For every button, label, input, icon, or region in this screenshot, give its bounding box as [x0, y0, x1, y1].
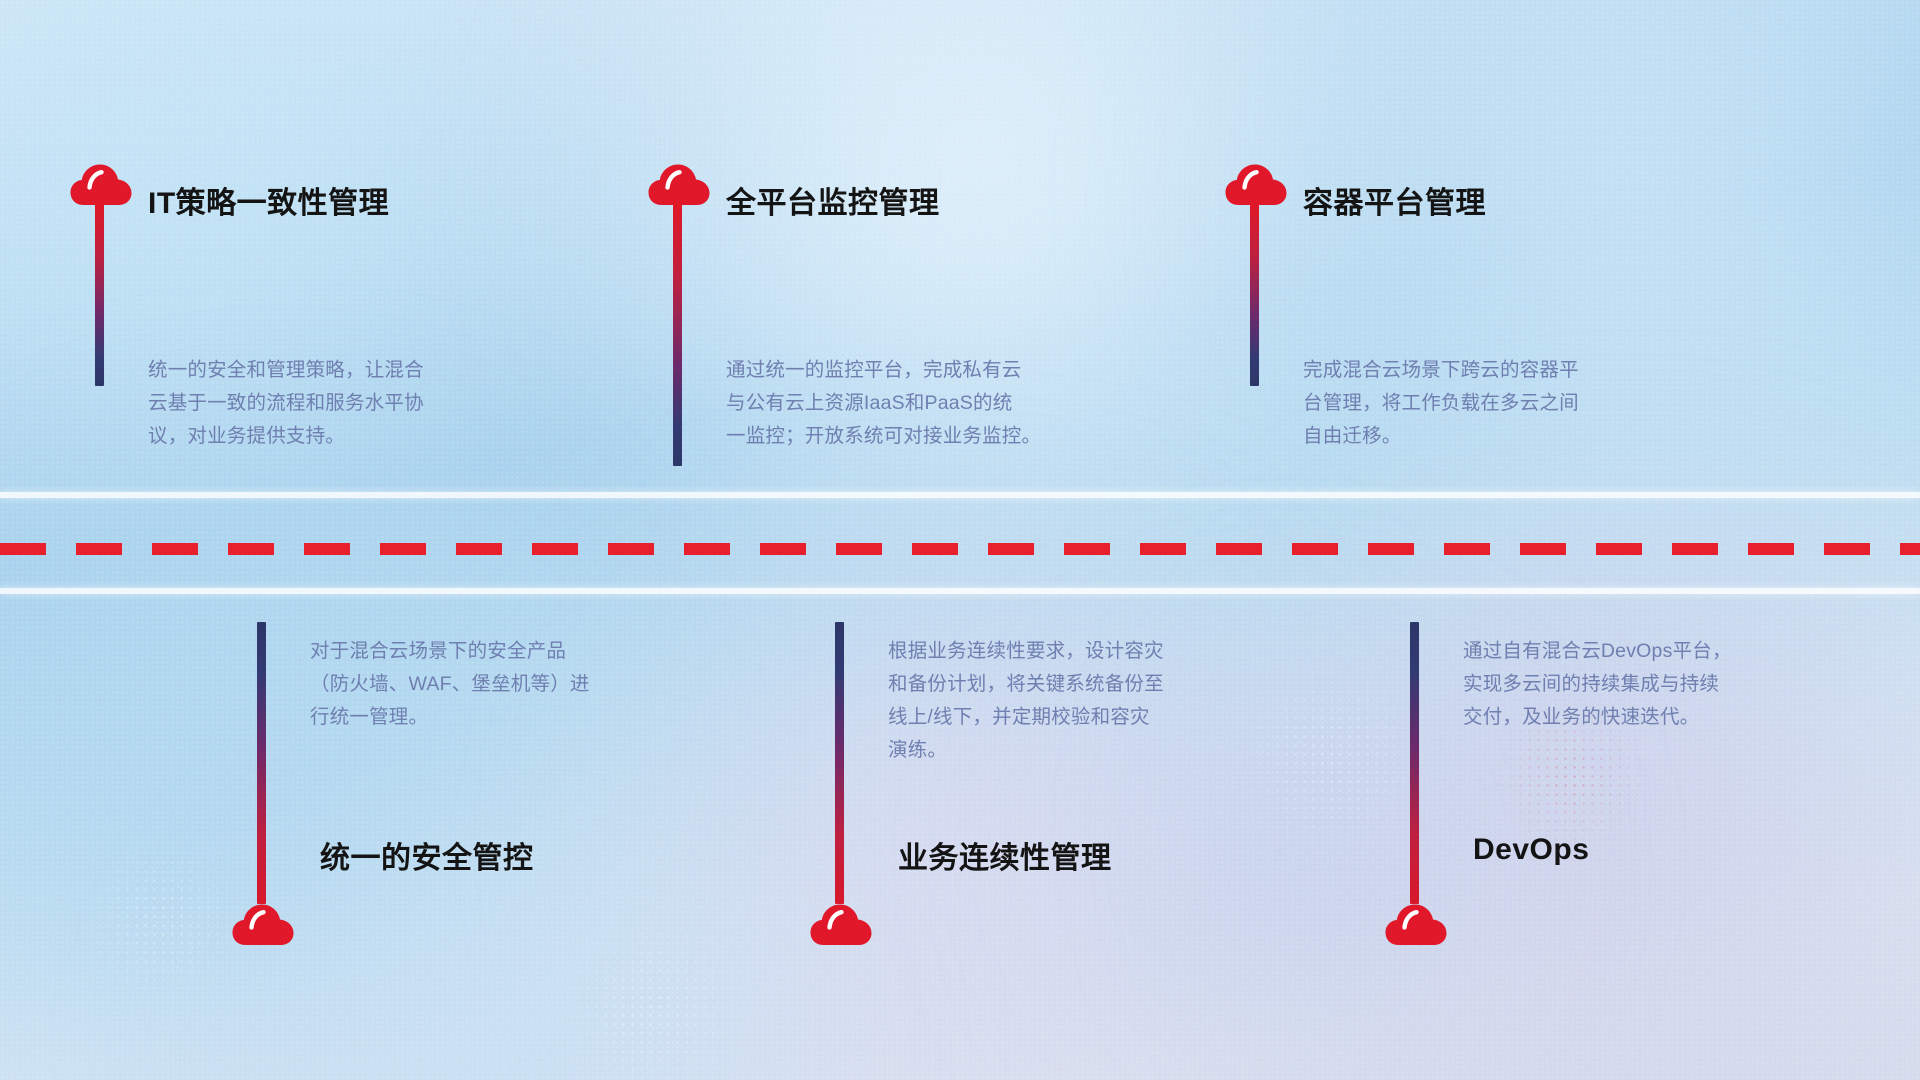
- divider-rule-top: [0, 492, 1920, 498]
- connector-stem: [257, 622, 266, 904]
- body-line: 台管理，将工作负载在多云之间: [1303, 387, 1653, 420]
- body-line: 通过统一的监控平台，完成私有云: [726, 354, 1076, 387]
- body-line: 自由迁移。: [1303, 420, 1653, 453]
- body-line: 与公有云上资源IaaS和PaaS的统: [726, 387, 1076, 420]
- card-title: 容器平台管理: [1303, 178, 1486, 222]
- divider-rule-dashed: [0, 543, 1920, 555]
- body-line: 议，对业务提供支持。: [148, 420, 498, 453]
- card-body: 根据业务连续性要求，设计容灾 和备份计划，将关键系统备份至 线上/线下，并定期校…: [888, 635, 1238, 767]
- infographic-canvas: IT策略一致性管理 统一的安全和管理策略，让混合 云基于一致的流程和服务水平协 …: [0, 0, 1920, 1080]
- body-line: 统一的安全和管理策略，让混合: [148, 354, 498, 387]
- body-line: （防火墙、WAF、堡垒机等）进: [310, 668, 660, 701]
- card-title: 业务连续性管理: [898, 833, 1112, 877]
- body-line: 对于混合云场景下的安全产品: [310, 635, 660, 668]
- body-line: 行统一管理。: [310, 701, 660, 734]
- body-line: 演练。: [888, 734, 1238, 767]
- card-body: 通过自有混合云DevOps平台， 实现多云间的持续集成与持续 交付，及业务的快速…: [1463, 635, 1813, 734]
- body-line: 完成混合云场景下跨云的容器平: [1303, 354, 1653, 387]
- cloud-icon: [1385, 900, 1447, 946]
- body-line: 云基于一致的流程和服务水平协: [148, 387, 498, 420]
- decorative-dot-cluster: [60, 840, 260, 1000]
- card-body: 统一的安全和管理策略，让混合 云基于一致的流程和服务水平协 议，对业务提供支持。: [148, 354, 498, 453]
- connector-stem: [95, 203, 104, 386]
- card-body: 通过统一的监控平台，完成私有云 与公有云上资源IaaS和PaaS的统 一监控；开…: [726, 354, 1076, 453]
- card-title: 统一的安全管控: [320, 833, 534, 877]
- cloud-icon: [1225, 160, 1287, 206]
- body-line: 实现多云间的持续集成与持续: [1463, 668, 1813, 701]
- card-body: 完成混合云场景下跨云的容器平 台管理，将工作负载在多云之间 自由迁移。: [1303, 354, 1653, 453]
- cloud-icon: [810, 900, 872, 946]
- connector-stem: [1250, 203, 1259, 386]
- cloud-icon: [232, 900, 294, 946]
- body-line: 根据业务连续性要求，设计容灾: [888, 635, 1238, 668]
- card-body: 对于混合云场景下的安全产品 （防火墙、WAF、堡垒机等）进 行统一管理。: [310, 635, 660, 734]
- cloud-icon: [70, 160, 132, 206]
- card-title: IT策略一致性管理: [148, 178, 389, 222]
- card-title: DevOps: [1473, 833, 1589, 867]
- body-line: 和备份计划，将关键系统备份至: [888, 668, 1238, 701]
- card-title: 全平台监控管理: [726, 178, 940, 222]
- body-line: 通过自有混合云DevOps平台，: [1463, 635, 1813, 668]
- body-line: 线上/线下，并定期校验和容灾: [888, 701, 1238, 734]
- connector-stem: [1410, 622, 1419, 904]
- connector-stem: [673, 203, 682, 466]
- divider-rule-bottom: [0, 588, 1920, 594]
- cloud-icon: [648, 160, 710, 206]
- decorative-dot-cluster: [520, 930, 780, 1080]
- body-line: 一监控；开放系统可对接业务监控。: [726, 420, 1076, 453]
- connector-stem: [835, 622, 844, 904]
- body-line: 交付，及业务的快速迭代。: [1463, 701, 1813, 734]
